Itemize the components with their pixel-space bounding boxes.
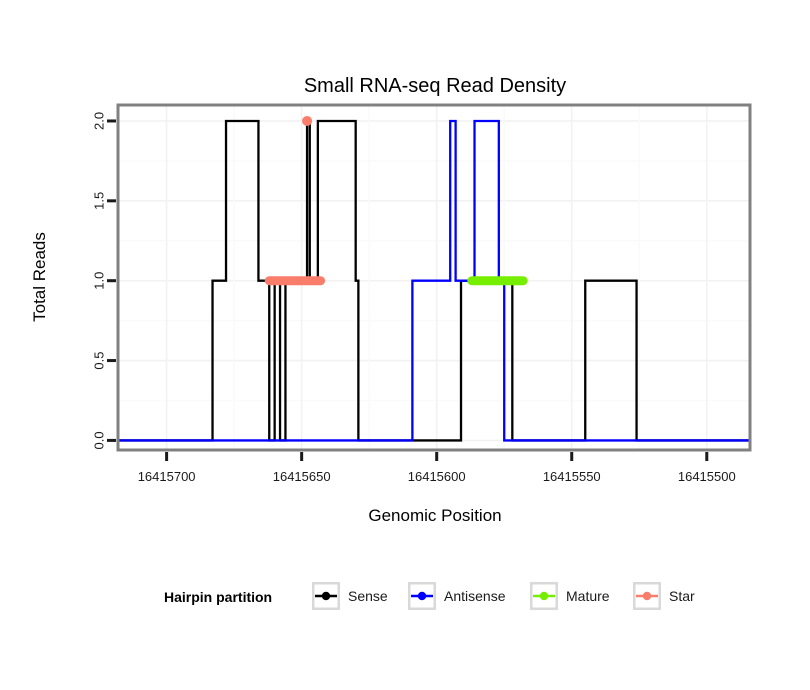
annotation-point-star bbox=[302, 116, 312, 126]
legend-label: Sense bbox=[348, 588, 388, 604]
legend-key-point bbox=[322, 592, 330, 600]
x-axis-title: Genomic Position bbox=[368, 506, 501, 525]
chart-title: Small RNA-seq Read Density bbox=[304, 75, 566, 97]
y-tick-label: 2.0 bbox=[91, 112, 106, 130]
legend-label: Star bbox=[669, 588, 695, 604]
legend-key-point bbox=[418, 592, 426, 600]
x-tick-label: 16415550 bbox=[543, 469, 601, 484]
y-tick-label: 1.0 bbox=[91, 272, 106, 290]
plot-panel bbox=[118, 105, 750, 450]
x-tick-label: 16415500 bbox=[678, 469, 736, 484]
legend-key-point bbox=[540, 592, 548, 600]
legend-key-point bbox=[643, 592, 651, 600]
y-axis-title: Total Reads bbox=[30, 232, 49, 322]
x-tick-label: 16415600 bbox=[408, 469, 466, 484]
x-tick-label: 16415650 bbox=[273, 469, 331, 484]
chart-canvas: Small RNA-seq Read Density Total Reads G… bbox=[0, 0, 810, 690]
y-tick-label: 0.0 bbox=[91, 431, 106, 449]
y-tick-label: 1.5 bbox=[91, 192, 106, 210]
legend-label: Antisense bbox=[444, 588, 506, 604]
chart-figure: Small RNA-seq Read Density Total Reads G… bbox=[0, 0, 810, 690]
legend-title: Hairpin partition bbox=[164, 589, 272, 605]
legend-label: Mature bbox=[566, 588, 610, 604]
x-tick-label: 16415700 bbox=[138, 469, 196, 484]
y-tick-label: 0.5 bbox=[91, 352, 106, 370]
